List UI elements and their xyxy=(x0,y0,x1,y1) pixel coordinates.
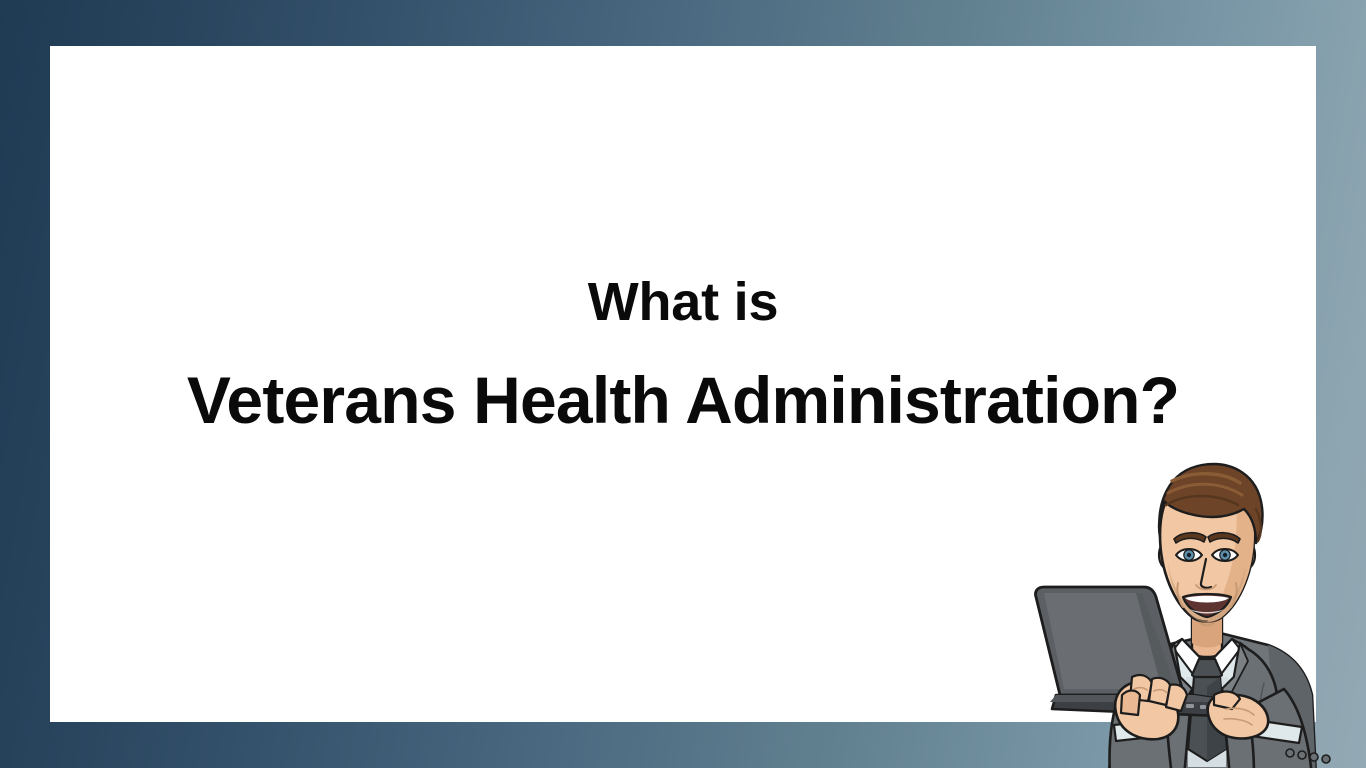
title-line-secondary: Veterans Health Administration? xyxy=(50,367,1316,433)
presentation-slide: What is Veterans Health Administration? xyxy=(0,0,1366,768)
slide-title-block: What is Veterans Health Administration? xyxy=(50,275,1316,433)
title-line-primary: What is xyxy=(50,275,1316,329)
